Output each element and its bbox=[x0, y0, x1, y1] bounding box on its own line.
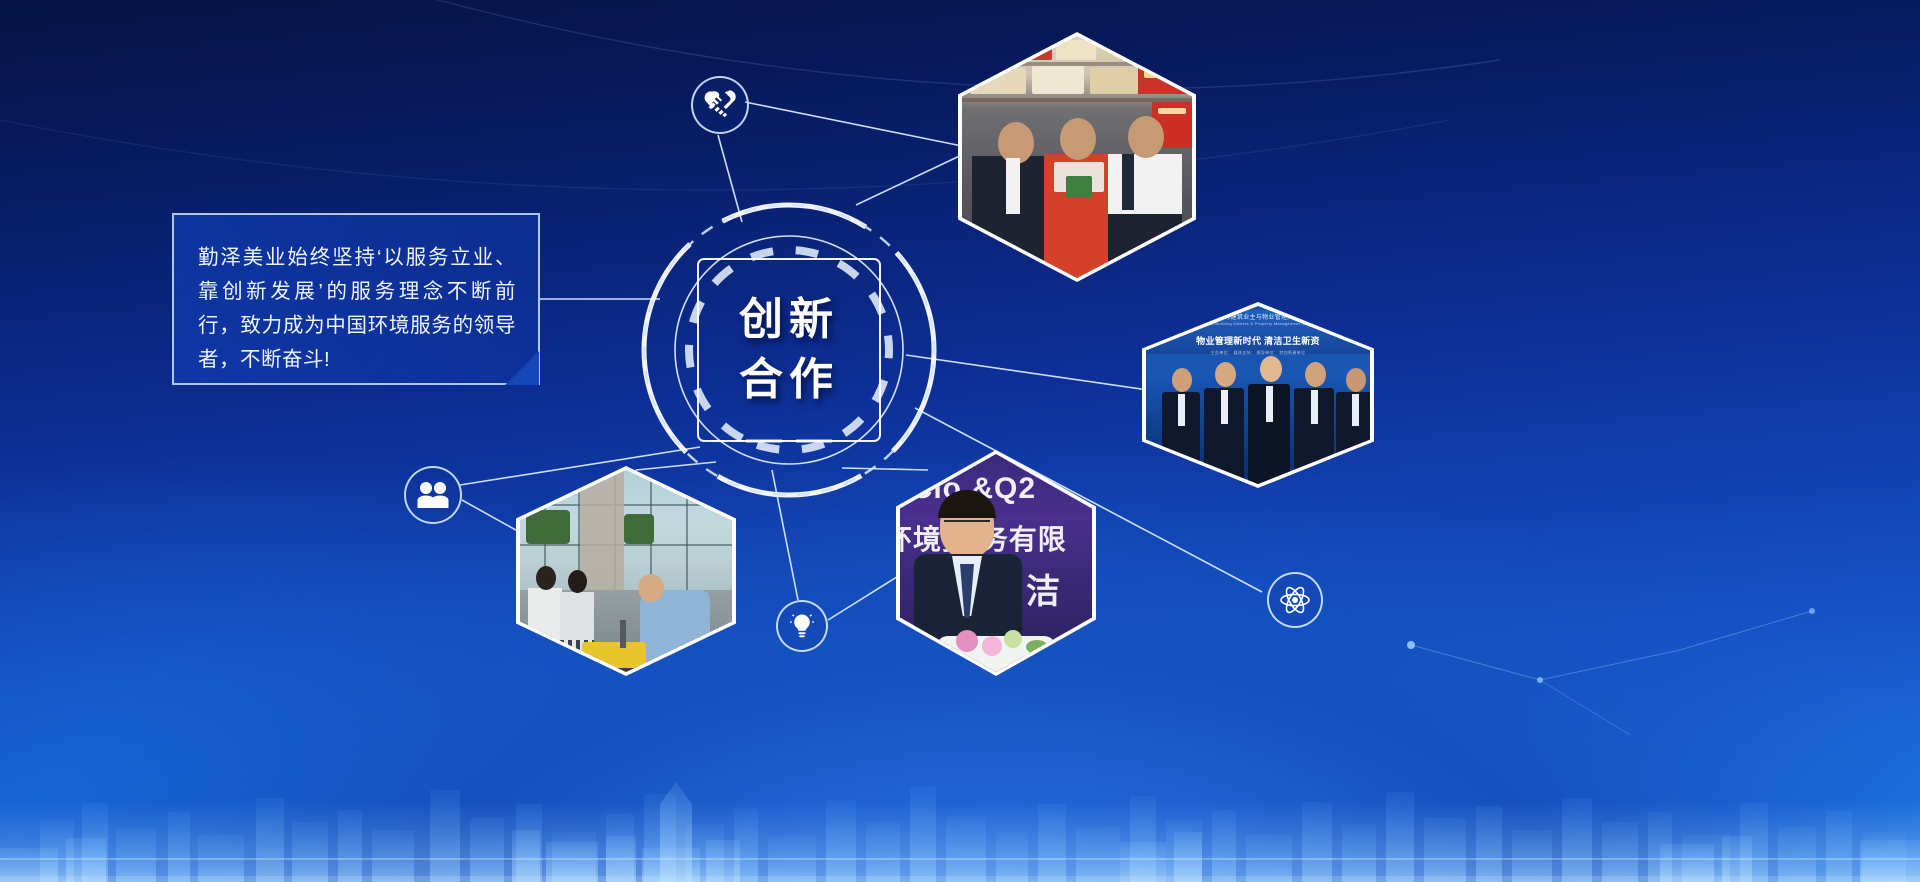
callout-box: 勤泽美业始终坚持‘以服务立业、靠创新发展’的服务理念不断前行，致力成为中国环境服… bbox=[172, 213, 540, 385]
handshake-heart-icon[interactable] bbox=[691, 76, 749, 134]
summit-sponsors: 主办单位： 媒体支持： 指导单位： 特别鸣谢单位 bbox=[1146, 350, 1370, 356]
center-title: 创新 合作 bbox=[636, 197, 942, 503]
two-people-icon[interactable] bbox=[404, 466, 462, 524]
atom-glyph bbox=[1279, 584, 1311, 616]
lightbulb-icon[interactable] bbox=[776, 600, 828, 652]
center-title-line2: 合作 bbox=[739, 350, 839, 410]
city-skyline bbox=[0, 652, 1920, 882]
handshake-heart-glyph bbox=[703, 90, 737, 120]
banner-root: 勤泽美业始终坚持‘以服务立业、靠创新发展’的服务理念不断前行，致力成为中国环境服… bbox=[0, 0, 1920, 882]
two-people-glyph bbox=[417, 481, 449, 509]
center-badge: 创新 合作 bbox=[636, 197, 942, 503]
callout-text: 勤泽美业始终坚持‘以服务立业、靠创新发展’的服务理念不断前行，致力成为中国环境服… bbox=[198, 241, 516, 377]
atom-icon[interactable] bbox=[1267, 572, 1323, 628]
center-title-line1: 创新 bbox=[739, 290, 839, 350]
lightbulb-glyph bbox=[790, 613, 814, 639]
screen-text-3: 洁 bbox=[1026, 564, 1060, 613]
